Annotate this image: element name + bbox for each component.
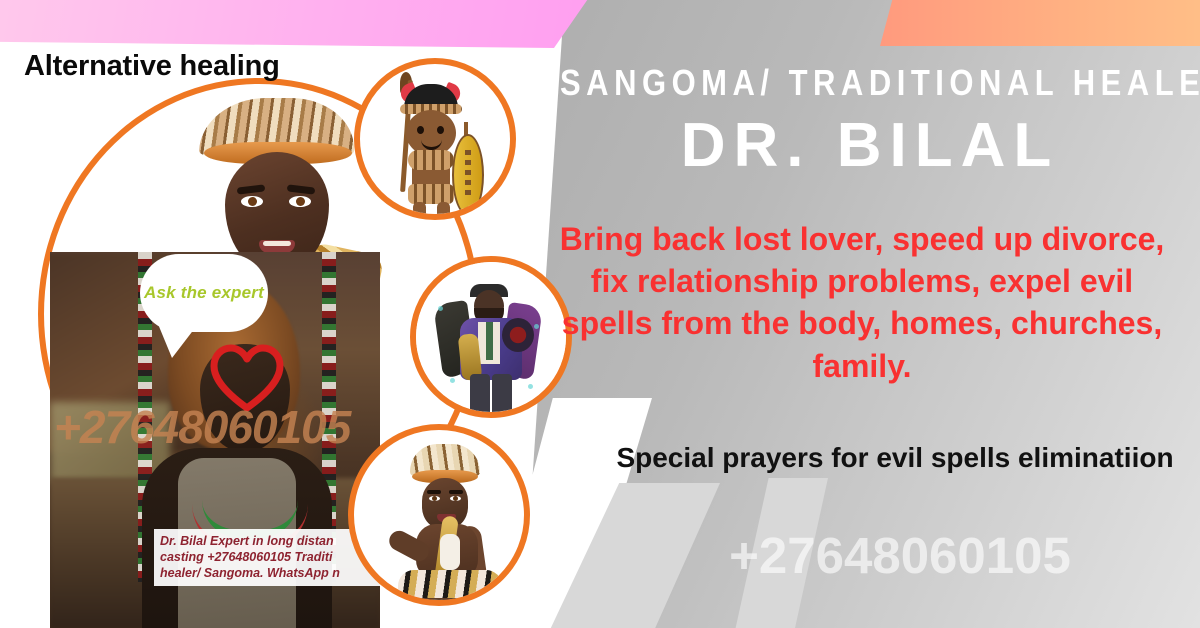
dancer-white-cuff [440,534,460,570]
warrior-fur-collar [408,150,454,170]
photo-caption: Dr. Bilal Expert in long distan casting … [154,529,380,586]
warrior-smile [421,137,442,150]
photo-phone-watermark: +27648060105 [54,400,380,454]
circle-image-zulu-dancer [348,424,530,606]
healer-shield [502,318,534,352]
photo-traditional-healer: Ask the expert +27648060105 Dr. Bilal Ex… [50,252,380,628]
warrior-eye-left [417,126,424,134]
healer-tie [486,322,493,360]
sparkle-2 [534,324,539,329]
speech-bubble-tail [158,324,198,358]
healer-leg-right [492,374,512,416]
special-offer-text: Special prayers for evil spells eliminat… [610,440,1180,476]
warrior-shield [452,134,484,216]
eyebrow-left [237,184,266,194]
speech-bubble-text: Ask the expert [144,283,264,302]
healer-foot-right [492,412,518,418]
shield-pattern [465,150,471,200]
eye-left [241,196,263,207]
headline-kicker: SANGOMA/ TRADITIONAL HEALER [560,62,1180,104]
dancer-eye-right [450,496,461,501]
page-title: Alternative healing [24,50,280,83]
photo-caption-line-1: Dr. Bilal Expert in long distan [160,533,380,549]
dancer-eyebrow-left [427,490,441,494]
speech-bubble: Ask the expert [140,254,268,332]
warrior-leg-right [437,202,450,220]
poster-canvas: Alternative healing Ask the expert [0,0,1200,628]
sparkle-1 [438,306,443,311]
warrior-skirt [408,184,454,204]
warrior-eye-right [437,126,444,134]
sparkle-3 [450,378,455,383]
eyebrow-right [287,184,316,194]
photo-caption-line-2: casting +27648060105 Traditi [160,549,380,565]
dancer-eye-left [429,496,440,501]
circle-image-zulu-warrior [354,58,516,220]
healer-name: DR. BILAL [560,110,1180,181]
dancer-eyebrow-right [449,490,463,494]
pink-top-banner [0,0,590,48]
orange-top-banner [880,0,1200,46]
eye-right [289,196,311,207]
dancer-skirt [398,570,502,606]
healer-leg-left [470,374,490,416]
warrior-leg-left [413,202,426,220]
dancer-leg [410,598,468,606]
healer-foot-left [466,412,492,418]
services-text: Bring back lost lover, speed up divorce,… [542,218,1182,387]
photo-caption-line-3: healer/ Sangoma. WhatsApp n [160,565,380,581]
sparkle-4 [528,384,533,389]
phone-watermark: +27648060105 [620,526,1180,585]
